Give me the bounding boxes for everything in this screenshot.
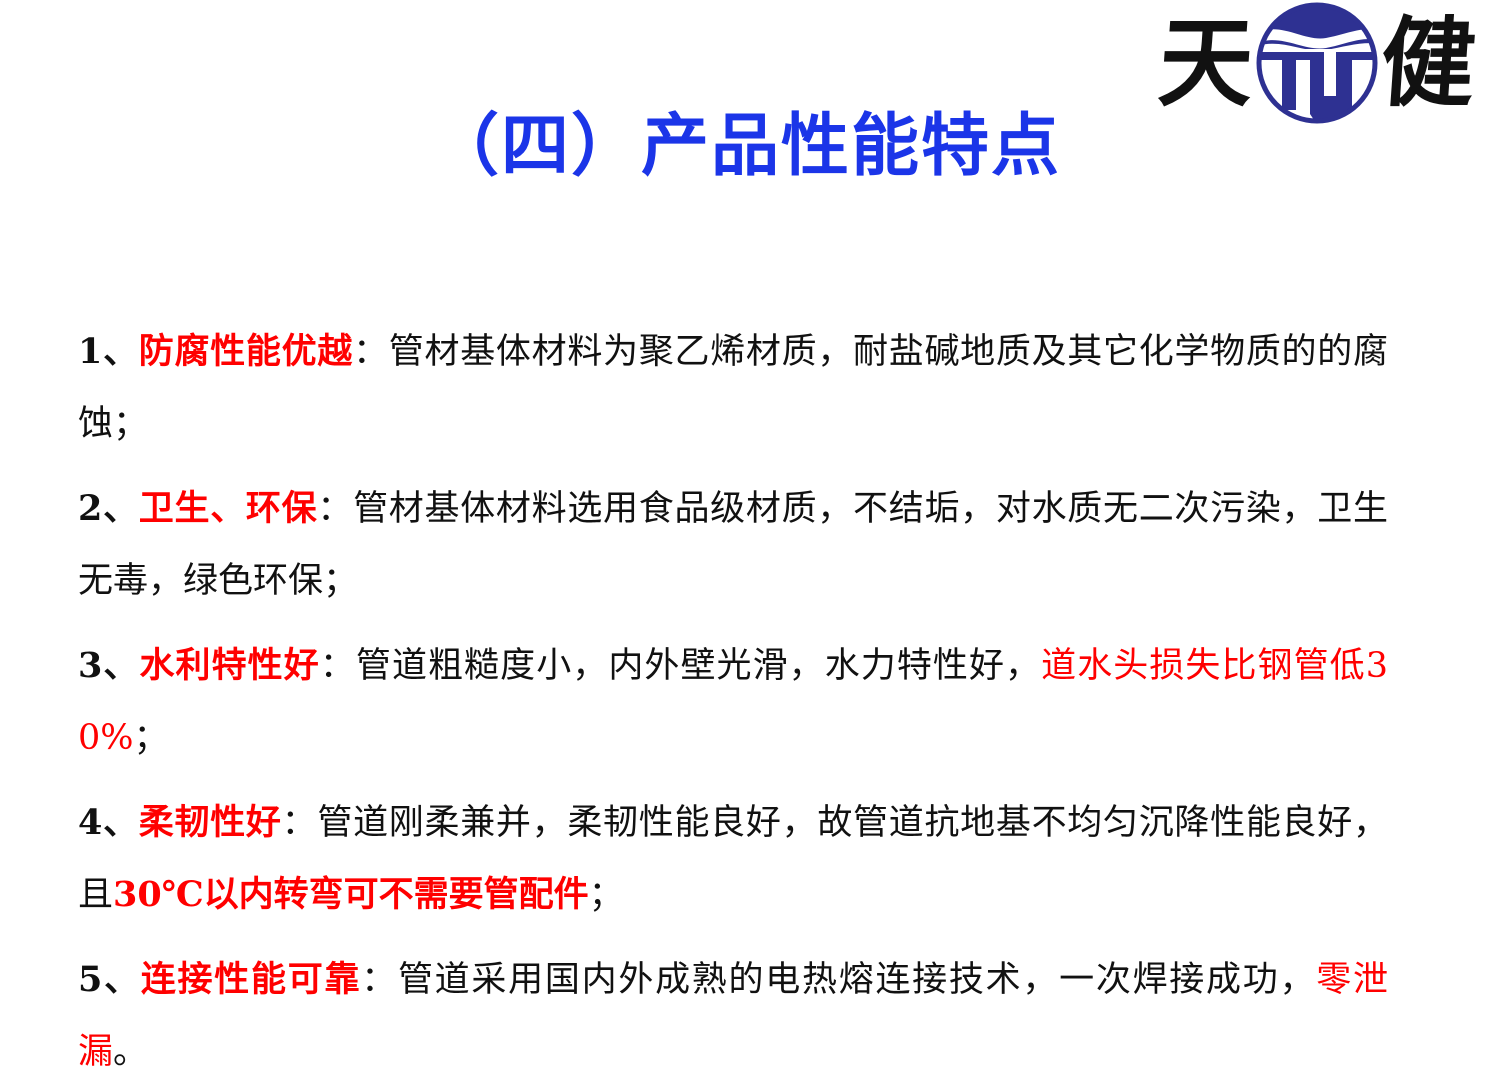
item-colon: ： (317, 489, 353, 529)
list-item: 3、水利特性好：管道粗糙度小，内外壁光滑，水力特性好，道水头损失比钢管低30%； (78, 630, 1388, 774)
item-colon: ： (282, 803, 318, 843)
item-body: 管道采用国内外成熟的电热熔连接技术，一次焊接成功， (398, 960, 1316, 1000)
item-colon: ： (361, 960, 398, 1000)
item-colon: ： (320, 646, 356, 686)
slide-title: （四）产品性能特点 (0, 108, 1492, 186)
item-number: 1、 (78, 331, 139, 372)
company-logo: 天 (1174, 2, 1474, 124)
item-keyword: 卫生、环保 (139, 488, 318, 529)
list-item: 2、卫生、环保：管材基体材料选用食品级材质，不结垢，对水质无二次污染，卫生无毒，… (78, 473, 1388, 617)
item-highlight: 30℃以内转弯可不需要管配件 (113, 874, 589, 915)
item-keyword: 防腐性能优越 (139, 331, 353, 372)
item-colon: ： (353, 332, 389, 372)
feature-list: 1、防腐性能优越：管材基体材料为聚乙烯材质，耐盐碱地质及其它化学物质的的腐蚀； … (78, 316, 1388, 1088)
item-tail: ； (134, 718, 169, 758)
item-number: 4、 (78, 802, 139, 843)
list-item: 5、连接性能可靠：管道采用国内外成熟的电热熔连接技术，一次焊接成功，零泄漏。 (78, 944, 1388, 1088)
item-keyword: 水利特性好 (139, 645, 319, 686)
item-body: 管道粗糙度小，内外壁光滑，水力特性好， (356, 646, 1041, 686)
logo-emblem-icon (1256, 2, 1378, 124)
logo-char-jian: 健 (1378, 14, 1479, 112)
item-tail: ； (589, 875, 624, 915)
list-item: 4、柔韧性好：管道刚柔兼并，柔韧性能良好，故管道抗地基不均匀沉降性能良好，且30… (78, 787, 1388, 931)
list-item: 1、防腐性能优越：管材基体材料为聚乙烯材质，耐盐碱地质及其它化学物质的的腐蚀； (78, 316, 1388, 460)
item-number: 2、 (78, 488, 139, 529)
item-keyword: 柔韧性好 (139, 802, 282, 843)
item-keyword: 连接性能可靠 (141, 959, 361, 1000)
item-tail: 。 (113, 1032, 148, 1072)
item-number: 3、 (78, 645, 139, 686)
logo-char-tian: 天 (1156, 14, 1257, 112)
item-number: 5、 (78, 959, 141, 1000)
